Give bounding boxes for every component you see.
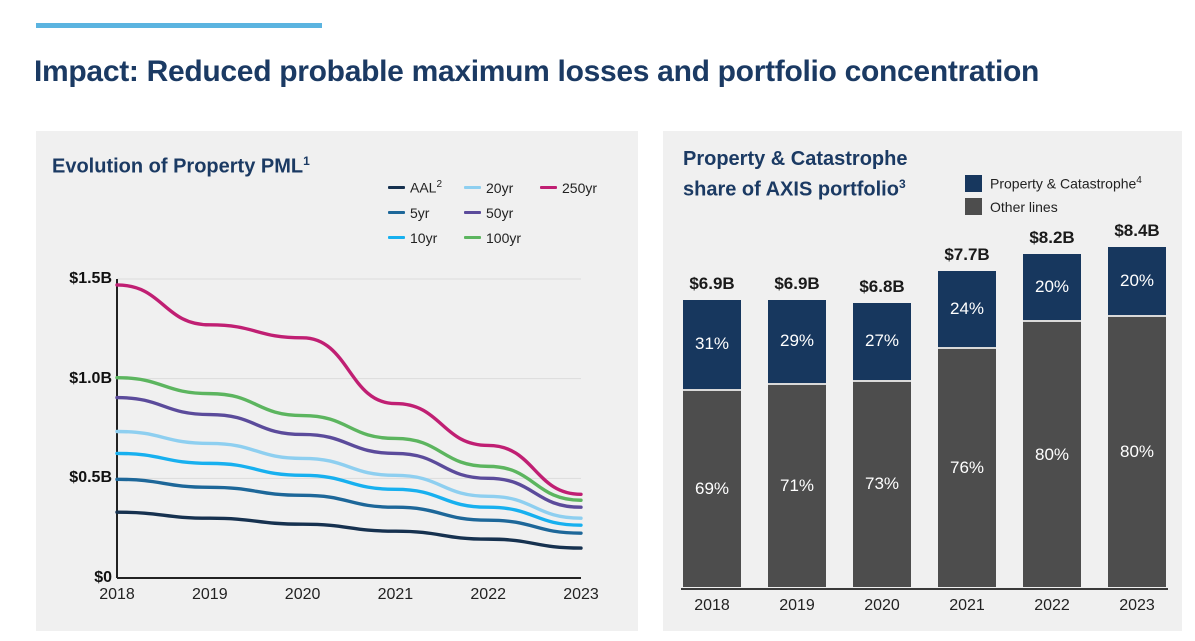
bar-legend-label-superscript: 4 (1136, 175, 1142, 186)
bar-segment-property-catastrophe[interactable]: 20% (1108, 247, 1166, 315)
bar-total-label: $6.9B (689, 274, 734, 294)
x-tick-label: 2019 (192, 586, 228, 604)
bar-segment-label: 80% (1120, 442, 1154, 462)
bar-column[interactable]: $8.2B20%80% (1023, 254, 1081, 587)
bar-segment-other-lines[interactable]: 71% (768, 383, 826, 587)
bar-segment-label: 20% (1120, 271, 1154, 291)
line-chart-x-axis-labels: 201820192020202120222023 (36, 131, 638, 631)
bar-segment-label: 73% (865, 474, 899, 494)
bar-segment-other-lines[interactable]: 69% (683, 389, 741, 587)
bar-segment-other-lines[interactable]: 73% (853, 380, 911, 587)
x-tick-label: 2023 (563, 586, 599, 604)
bar-legend-item[interactable]: Other lines (965, 198, 1142, 215)
bar-chart-x-axis-labels: 201820192020202120222023 (683, 593, 1166, 623)
bar-segment-label: 69% (695, 479, 729, 499)
bar-column[interactable]: $6.9B31%69% (683, 300, 741, 587)
bar-legend-swatch-icon (965, 198, 982, 215)
bar-total-label: $8.4B (1114, 221, 1159, 241)
right-panel-title: Property & Catastrophe share of AXIS por… (683, 147, 963, 203)
portfolio-share-chart-panel: Property & Catastrophe share of AXIS por… (663, 131, 1182, 631)
bar-legend-item[interactable]: Property & Catastrophe4 (965, 175, 1142, 192)
bar-column[interactable]: $8.4B20%80% (1108, 247, 1166, 587)
bar-column[interactable]: $6.8B27%73% (853, 303, 911, 587)
bar-total-label: $6.9B (774, 274, 819, 294)
right-panel-title-line2: share of AXIS portfolio (683, 179, 899, 201)
bar-x-tick-label: 2021 (949, 597, 985, 615)
bar-segment-label: 71% (780, 476, 814, 496)
bar-x-tick-label: 2018 (694, 597, 730, 615)
title-accent-rule (36, 23, 322, 28)
bar-x-tick-label: 2019 (779, 597, 815, 615)
bar-legend-label: Other lines (990, 199, 1058, 215)
x-tick-label: 2018 (99, 586, 135, 604)
bar-segment-other-lines[interactable]: 76% (938, 347, 996, 587)
stacked-bar-group: $6.9B31%69%$6.9B29%71%$6.8B27%73%$7.7B24… (683, 247, 1166, 587)
bar-segment-label: 76% (950, 458, 984, 478)
bar-chart-legend: Property & Catastrophe4Other lines (965, 175, 1142, 221)
bar-x-tick-label: 2023 (1119, 597, 1155, 615)
bar-segment-label: 31% (695, 334, 729, 354)
pml-line-chart-panel: Evolution of Property PML1 AAL220yr250yr… (36, 131, 638, 631)
bar-chart-axis-line (681, 588, 1168, 590)
bar-segment-property-catastrophe[interactable]: 20% (1023, 254, 1081, 321)
bar-segment-label: 20% (1035, 277, 1069, 297)
right-panel-title-line1: Property & Catastrophe (683, 148, 908, 170)
bar-legend-swatch-icon (965, 175, 982, 192)
bar-segment-other-lines[interactable]: 80% (1023, 320, 1081, 587)
page-title: Impact: Reduced probable maximum losses … (34, 55, 1184, 89)
bar-segment-property-catastrophe[interactable]: 29% (768, 300, 826, 383)
bar-segment-label: 80% (1035, 445, 1069, 465)
right-panel-title-superscript: 3 (899, 177, 906, 191)
bar-total-label: $7.7B (944, 245, 989, 265)
bar-segment-other-lines[interactable]: 80% (1108, 315, 1166, 587)
bar-total-label: $8.2B (1029, 228, 1074, 248)
bar-legend-label: Property & Catastrophe4 (990, 175, 1142, 192)
bar-segment-label: 24% (950, 299, 984, 319)
bar-column[interactable]: $7.7B24%76% (938, 271, 996, 587)
bar-segment-label: 27% (865, 331, 899, 351)
bar-x-tick-label: 2022 (1034, 597, 1070, 615)
bar-column[interactable]: $6.9B29%71% (768, 300, 826, 587)
bar-segment-property-catastrophe[interactable]: 31% (683, 300, 741, 389)
bar-total-label: $6.8B (859, 277, 904, 297)
x-tick-label: 2021 (378, 586, 414, 604)
bar-segment-property-catastrophe[interactable]: 27% (853, 303, 911, 380)
x-tick-label: 2022 (470, 586, 506, 604)
bar-x-tick-label: 2020 (864, 597, 900, 615)
bar-segment-label: 29% (780, 331, 814, 351)
bar-segment-property-catastrophe[interactable]: 24% (938, 271, 996, 347)
x-tick-label: 2020 (285, 586, 321, 604)
